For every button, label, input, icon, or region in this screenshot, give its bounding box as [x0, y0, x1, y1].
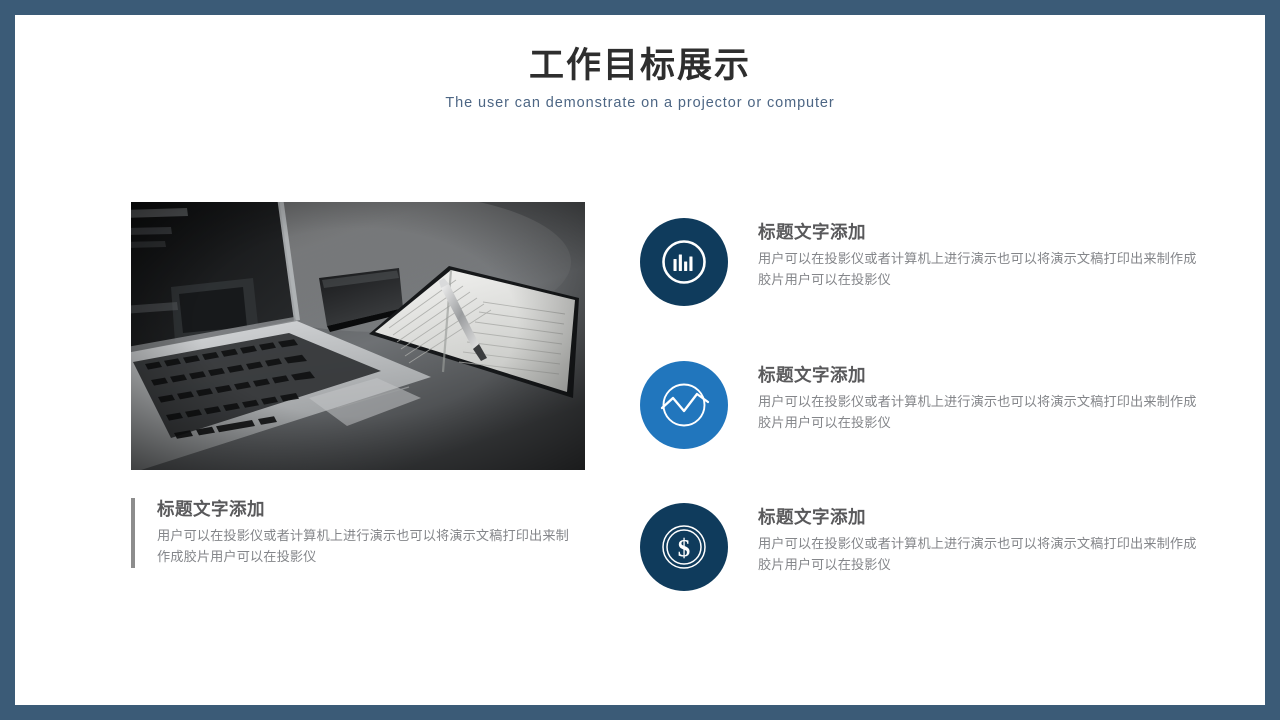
page-subtitle: The user can demonstrate on a projector …	[15, 95, 1265, 111]
slide-header: 工作目标展示 The user can demonstrate on a pro…	[15, 15, 1265, 111]
feature-heading: 标题文字添加	[758, 221, 1200, 244]
feature-heading: 标题文字添加	[758, 364, 1200, 387]
left-caption-accent-bar	[131, 498, 135, 568]
bar-chart-glyph	[658, 236, 710, 288]
feature-row[interactable]: 标题文字添加 用户可以在投影仪或者计算机上进行演示也可以将演示文稿打印出来制作成…	[640, 203, 1200, 306]
feature-text: 用户可以在投影仪或者计算机上进行演示也可以将演示文稿打印出来制作成胶片用户可以在…	[758, 248, 1200, 291]
photo-illustration	[131, 202, 585, 470]
dollar-coin-glyph: $	[657, 520, 711, 574]
left-caption-block: 标题文字添加 用户可以在投影仪或者计算机上进行演示也可以将演示文稿打印出来制作成…	[131, 498, 571, 568]
left-caption-heading: 标题文字添加	[157, 498, 571, 521]
left-caption-text: 用户可以在投影仪或者计算机上进行演示也可以将演示文稿打印出来制作成胶片用户可以在…	[157, 525, 571, 568]
bar-chart-circle-icon[interactable]	[640, 218, 728, 306]
feature-text: 用户可以在投影仪或者计算机上进行演示也可以将演示文稿打印出来制作成胶片用户可以在…	[758, 391, 1200, 434]
svg-text:$: $	[678, 536, 691, 563]
dollar-coin-circle-icon[interactable]: $	[640, 503, 728, 591]
feature-copy: 标题文字添加 用户可以在投影仪或者计算机上进行演示也可以将演示文稿打印出来制作成…	[728, 488, 1200, 576]
left-caption-body: 标题文字添加 用户可以在投影仪或者计算机上进行演示也可以将演示文稿打印出来制作成…	[131, 498, 571, 568]
line-chart-circle-icon[interactable]	[640, 361, 728, 449]
slide-root: 工作目标展示 The user can demonstrate on a pro…	[0, 0, 1280, 720]
feature-text: 用户可以在投影仪或者计算机上进行演示也可以将演示文稿打印出来制作成胶片用户可以在…	[758, 533, 1200, 576]
feature-row[interactable]: $ 标题文字添加 用户可以在投影仪或者计算机上进行演示也可以将演示文稿打印出来制…	[640, 488, 1200, 591]
feature-row[interactable]: 标题文字添加 用户可以在投影仪或者计算机上进行演示也可以将演示文稿打印出来制作成…	[640, 346, 1200, 449]
feature-copy: 标题文字添加 用户可以在投影仪或者计算机上进行演示也可以将演示文稿打印出来制作成…	[728, 346, 1200, 434]
slide-canvas: 工作目标展示 The user can demonstrate on a pro…	[15, 15, 1265, 705]
feature-copy: 标题文字添加 用户可以在投影仪或者计算机上进行演示也可以将演示文稿打印出来制作成…	[728, 203, 1200, 291]
laptop-notebook-pen-desk-photo	[131, 202, 585, 470]
feature-heading: 标题文字添加	[758, 506, 1200, 529]
line-chart-glyph	[657, 378, 711, 432]
page-title: 工作目标展示	[15, 46, 1265, 86]
